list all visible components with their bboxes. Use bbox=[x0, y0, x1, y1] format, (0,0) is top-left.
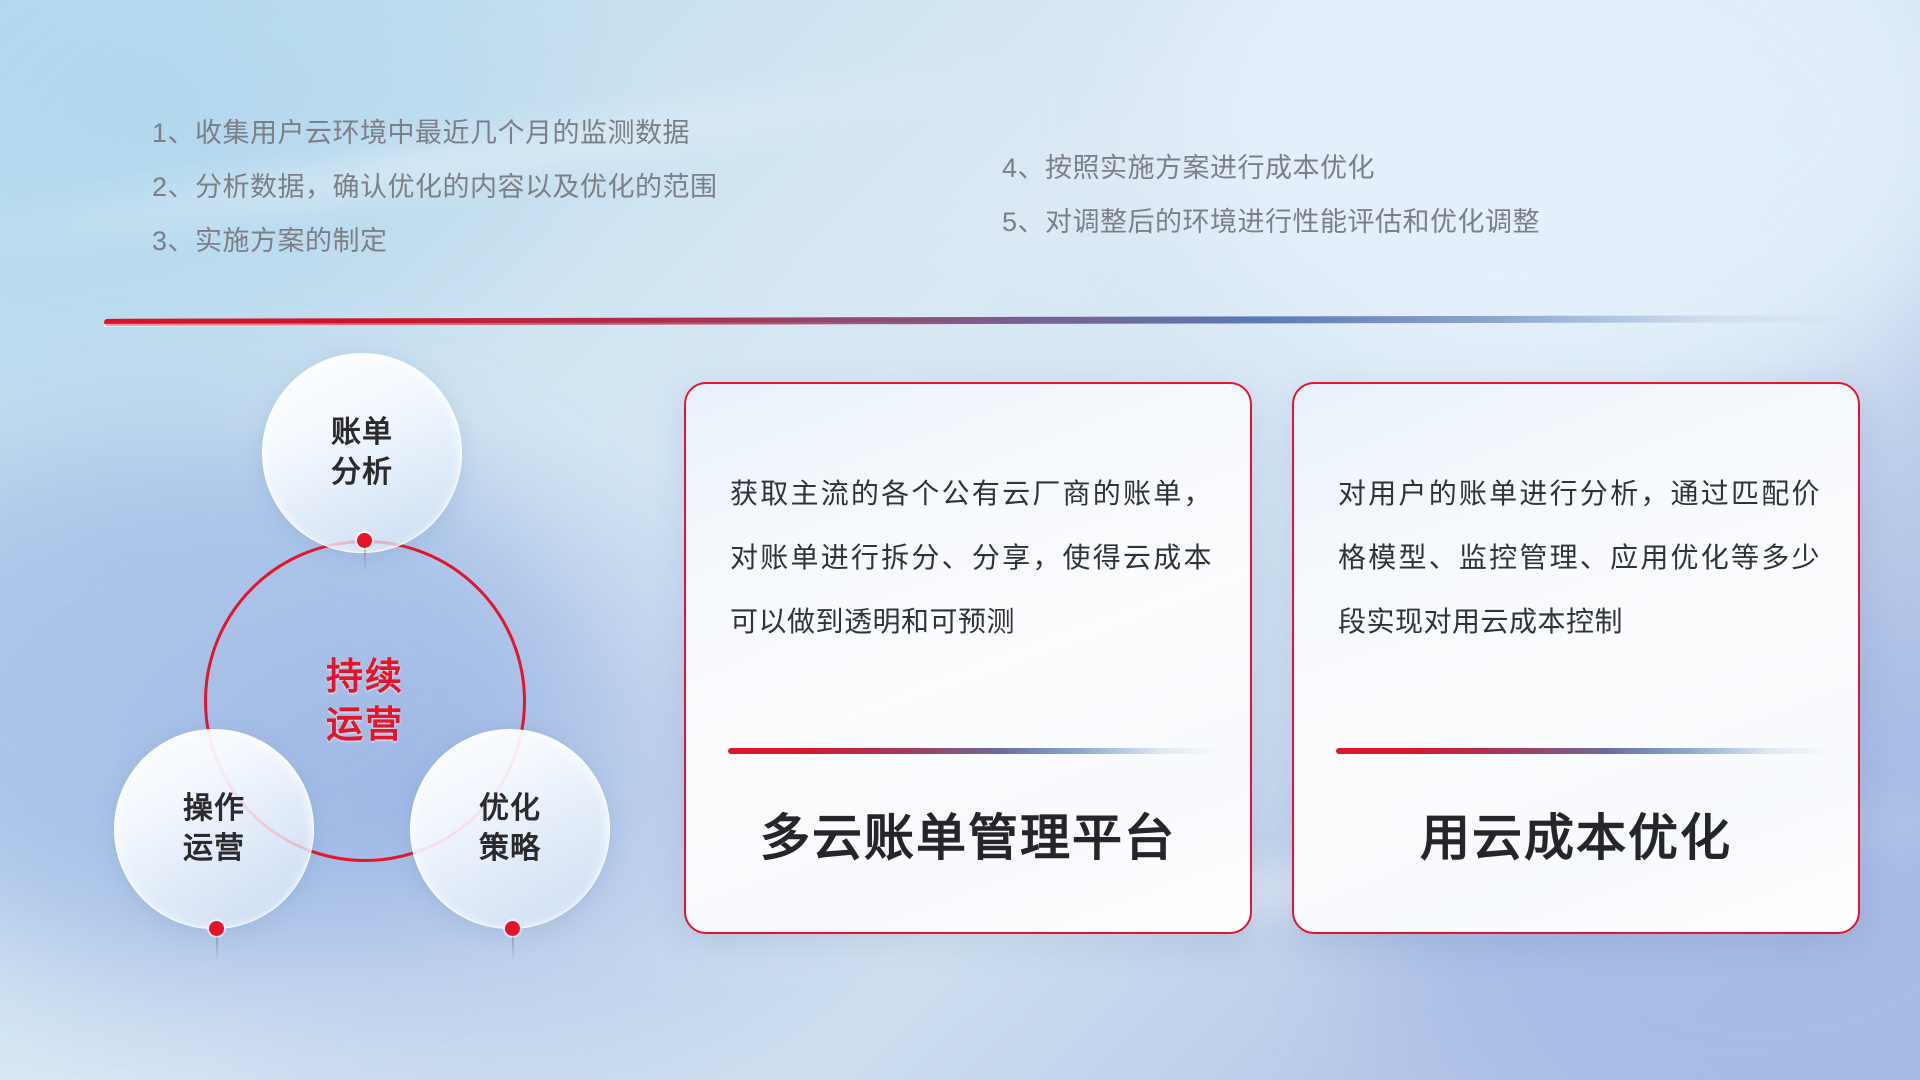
feature-card-multicloud-billing[interactable]: 获取主流的各个公有云厂商的账单，对账单进行拆分、分享，使得云成本可以做到透明和可… bbox=[684, 382, 1252, 934]
card-body-text: 获取主流的各个公有云厂商的账单，对账单进行拆分、分享，使得云成本可以做到透明和可… bbox=[730, 462, 1212, 653]
venn-connector-left bbox=[216, 935, 218, 961]
card-body-text: 对用户的账单进行分析，通过匹配价格模型、监控管理、应用优化等多少段实现对用云成本… bbox=[1338, 462, 1820, 653]
venn-node-bill-analysis[interactable]: 账单 分析 bbox=[262, 353, 462, 553]
section-divider bbox=[104, 315, 1854, 326]
step-item: 3、实施方案的制定 bbox=[152, 228, 718, 255]
step-item: 5、对调整后的环境进行性能评估和优化调整 bbox=[1002, 209, 1540, 236]
venn-node-label-line1: 操作 bbox=[183, 789, 245, 829]
venn-dot-top-icon bbox=[357, 533, 372, 548]
step-item: 2、分析数据，确认优化的内容以及优化的范围 bbox=[152, 174, 718, 201]
feature-card-cost-optimization[interactable]: 对用户的账单进行分析，通过匹配价格模型、监控管理、应用优化等多少段实现对用云成本… bbox=[1292, 382, 1860, 934]
venn-dot-left-icon bbox=[209, 921, 224, 936]
venn-node-label-line2: 分析 bbox=[331, 453, 393, 493]
step-item: 1、收集用户云环境中最近几个月的监测数据 bbox=[152, 120, 718, 147]
steps-right-column: 4、按照实施方案进行成本优化 5、对调整后的环境进行性能评估和优化调整 bbox=[1002, 155, 1540, 236]
venn-center-line2: 运营 bbox=[326, 701, 404, 749]
steps-left-column: 1、收集用户云环境中最近几个月的监测数据 2、分析数据，确认优化的内容以及优化的… bbox=[152, 120, 718, 255]
venn-node-label-line1: 优化 bbox=[479, 789, 541, 829]
venn-node-label-line2: 运营 bbox=[183, 829, 245, 869]
venn-dot-right-icon bbox=[505, 921, 520, 936]
venn-connector-top bbox=[364, 547, 366, 573]
card-title: 用云成本优化 bbox=[1294, 798, 1858, 870]
venn-node-label-line1: 账单 bbox=[331, 413, 393, 453]
venn-diagram: 持续 运营 账单 分析 操作 运营 优化 策略 bbox=[96, 345, 656, 945]
venn-node-operations[interactable]: 操作 运营 bbox=[114, 729, 314, 929]
step-item: 4、按照实施方案进行成本优化 bbox=[1002, 155, 1540, 182]
venn-node-label-line2: 策略 bbox=[479, 829, 541, 869]
venn-center-line1: 持续 bbox=[326, 653, 404, 701]
slide-canvas: 1、收集用户云环境中最近几个月的监测数据 2、分析数据，确认优化的内容以及优化的… bbox=[0, 0, 1920, 1080]
card-title: 多云账单管理平台 bbox=[686, 798, 1250, 870]
venn-node-optimization-strategy[interactable]: 优化 策略 bbox=[410, 729, 610, 929]
card-accent-rule bbox=[1336, 748, 1826, 754]
venn-connector-right bbox=[512, 935, 514, 961]
card-accent-rule bbox=[728, 748, 1218, 754]
